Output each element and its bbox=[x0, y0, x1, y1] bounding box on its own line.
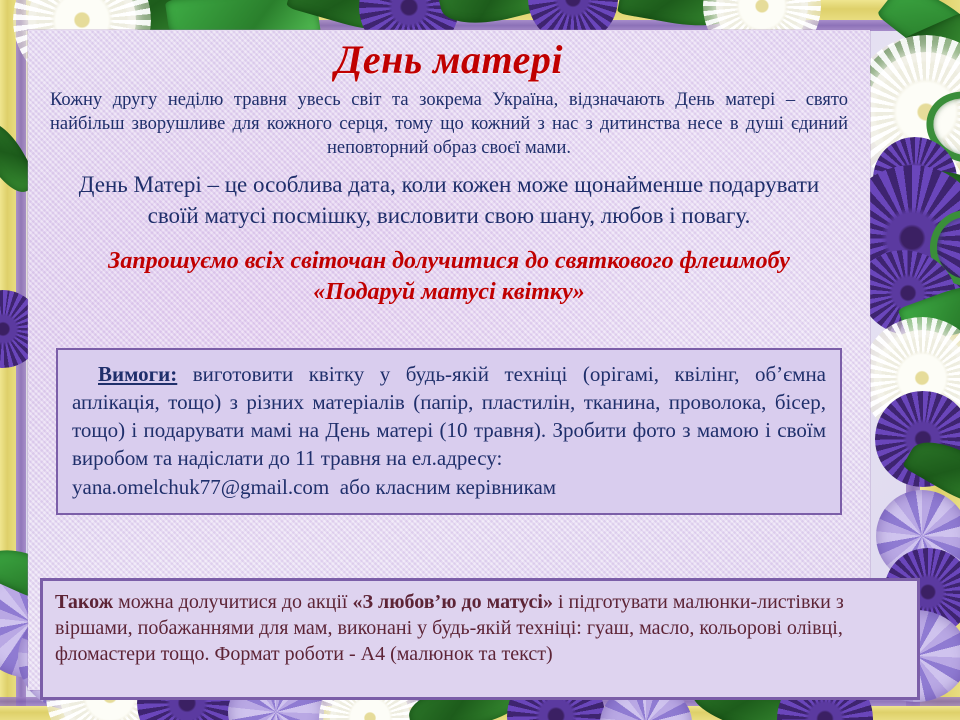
contact-email[interactable]: yana.omelchuk77@gmail.com bbox=[72, 475, 329, 499]
paragraph-intro: Кожну другу неділю травня увесь світ та … bbox=[50, 88, 848, 160]
paragraph-invitation: Запрошуємо всіх світочан долучитися до с… bbox=[62, 246, 836, 308]
mothers-day-poster: День матері Кожну другу неділю травня ув… bbox=[0, 0, 960, 720]
requirements-box: Вимоги: виготовити квітку у будь-якій те… bbox=[56, 348, 842, 515]
page-title: День матері bbox=[28, 38, 870, 82]
requirements-label: Вимоги: bbox=[98, 362, 177, 386]
also-text-part1: можна долучитися до акції bbox=[118, 591, 347, 613]
requirements-contact-line: yana.omelchuk77@gmail.com або класним ке… bbox=[72, 473, 826, 501]
purple-cornflower-icon bbox=[540, 0, 606, 32]
requirements-body-paragraph: Вимоги: виготовити квітку у будь-якій те… bbox=[72, 360, 826, 473]
campaign-name: «З любов’ю до матусі» bbox=[352, 591, 553, 613]
contact-alternative: або класним керівникам bbox=[340, 475, 556, 499]
paragraph-special-date: День Матері – це особлива дата, коли кож… bbox=[62, 170, 836, 232]
requirements-body-text: виготовити квітку у будь-якій техніці (о… bbox=[72, 362, 826, 470]
additional-activity-box: Також можна долучитися до акції «З любов… bbox=[40, 578, 920, 700]
also-label: Також bbox=[55, 591, 113, 613]
